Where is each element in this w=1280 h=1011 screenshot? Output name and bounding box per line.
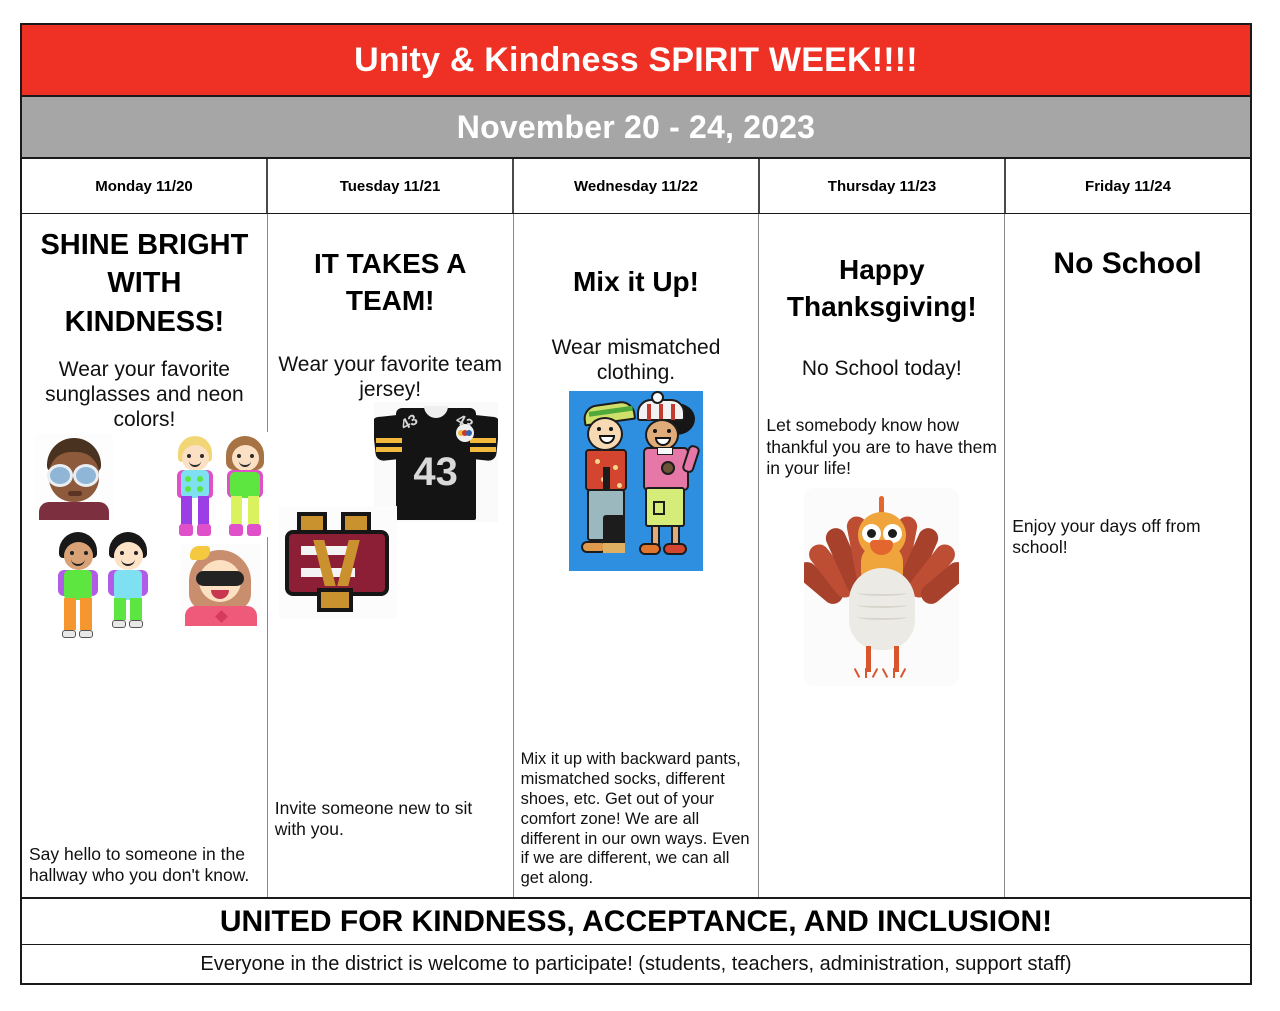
steelers-jersey-image: 43 43 43	[374, 402, 498, 522]
wednesday-instruction: Wear mismatched clothing.	[521, 335, 752, 385]
day-header-monday: Monday 11/20	[22, 159, 268, 213]
spirit-week-poster: Unity & Kindness SPIRIT WEEK!!!! Novembe…	[20, 23, 1252, 985]
tuesday-challenge: Invite someone new to sit with you.	[275, 798, 506, 841]
jersey-number: 43	[404, 450, 468, 495]
poster-title-banner: Unity & Kindness SPIRIT WEEK!!!!	[22, 25, 1250, 97]
friday-heading: No School	[1012, 244, 1243, 284]
thursday-heading: Happy Thanksgiving!	[766, 252, 997, 326]
day-column-monday: SHINE BRIGHT WITH KINDNESS! Wear your fa…	[22, 214, 268, 897]
friday-challenge: Enjoy your days off from school!	[1012, 516, 1243, 559]
day-header-thursday: Thursday 11/23	[760, 159, 1006, 213]
day-header-label: Wednesday 11/22	[574, 178, 698, 195]
poster-date-banner: November 20 - 24, 2023	[22, 97, 1250, 159]
tuesday-artwork-group: 43 43 43	[275, 402, 506, 617]
team-logo-icon	[456, 424, 474, 442]
day-columns-row: SHINE BRIGHT WITH KINDNESS! Wear your fa…	[22, 214, 1250, 899]
boy-with-sunglasses-clipart	[35, 434, 113, 520]
wednesday-heading: Mix it Up!	[521, 264, 752, 301]
two-girls-holding-hands-clipart	[169, 432, 274, 537]
poster-date-range: November 20 - 24, 2023	[457, 109, 815, 146]
day-header-friday: Friday 11/24	[1006, 159, 1250, 213]
footer-slogan: UNITED FOR KINDNESS, ACCEPTANCE, AND INC…	[22, 899, 1250, 945]
monday-instruction: Wear your favorite sunglasses and neon c…	[29, 357, 260, 433]
girl-with-sunglasses-clipart	[181, 544, 261, 626]
day-header-label: Monday 11/20	[95, 178, 193, 195]
day-header-label: Tuesday 11/21	[340, 178, 441, 195]
day-header-wednesday: Wednesday 11/22	[514, 159, 760, 213]
poster-title: Unity & Kindness SPIRIT WEEK!!!!	[354, 41, 918, 80]
footer-note: Everyone in the district is welcome to p…	[22, 945, 1250, 983]
turkey-clipart	[804, 488, 959, 686]
two-boys-holding-hands-clipart	[53, 530, 155, 640]
day-header-label: Thursday 11/23	[828, 178, 936, 195]
day-column-friday: No School Enjoy your days off from schoo…	[1005, 214, 1250, 897]
thursday-instruction: No School today!	[766, 356, 997, 381]
monday-challenge: Say hello to someone in the hallway who …	[29, 844, 260, 887]
footer-note-text: Everyone in the district is welcome to p…	[200, 953, 1071, 976]
day-column-thursday: Happy Thanksgiving! No School today! Let…	[759, 214, 1005, 897]
tuesday-heading: IT TAKES A TEAM!	[275, 246, 506, 320]
sv-school-logo	[279, 506, 397, 618]
thursday-challenge: Let somebody know how thankful you are t…	[766, 415, 997, 480]
monday-artwork-group	[29, 432, 260, 650]
two-kids-mismatched-clothing-clipart	[569, 391, 703, 571]
day-header-row: Monday 11/20 Tuesday 11/21 Wednesday 11/…	[22, 159, 1250, 214]
footer-slogan-text: UNITED FOR KINDNESS, ACCEPTANCE, AND INC…	[220, 905, 1052, 939]
tuesday-instruction: Wear your favorite team jersey!	[275, 352, 506, 402]
monday-heading: SHINE BRIGHT WITH KINDNESS!	[29, 226, 260, 341]
day-header-tuesday: Tuesday 11/21	[268, 159, 514, 213]
day-column-wednesday: Mix it Up! Wear mismatched clothing.	[514, 214, 760, 897]
day-column-tuesday: IT TAKES A TEAM! Wear your favorite team…	[268, 214, 514, 897]
day-header-label: Friday 11/24	[1085, 178, 1171, 195]
wednesday-challenge: Mix it up with backward pants, mismatche…	[521, 750, 752, 889]
